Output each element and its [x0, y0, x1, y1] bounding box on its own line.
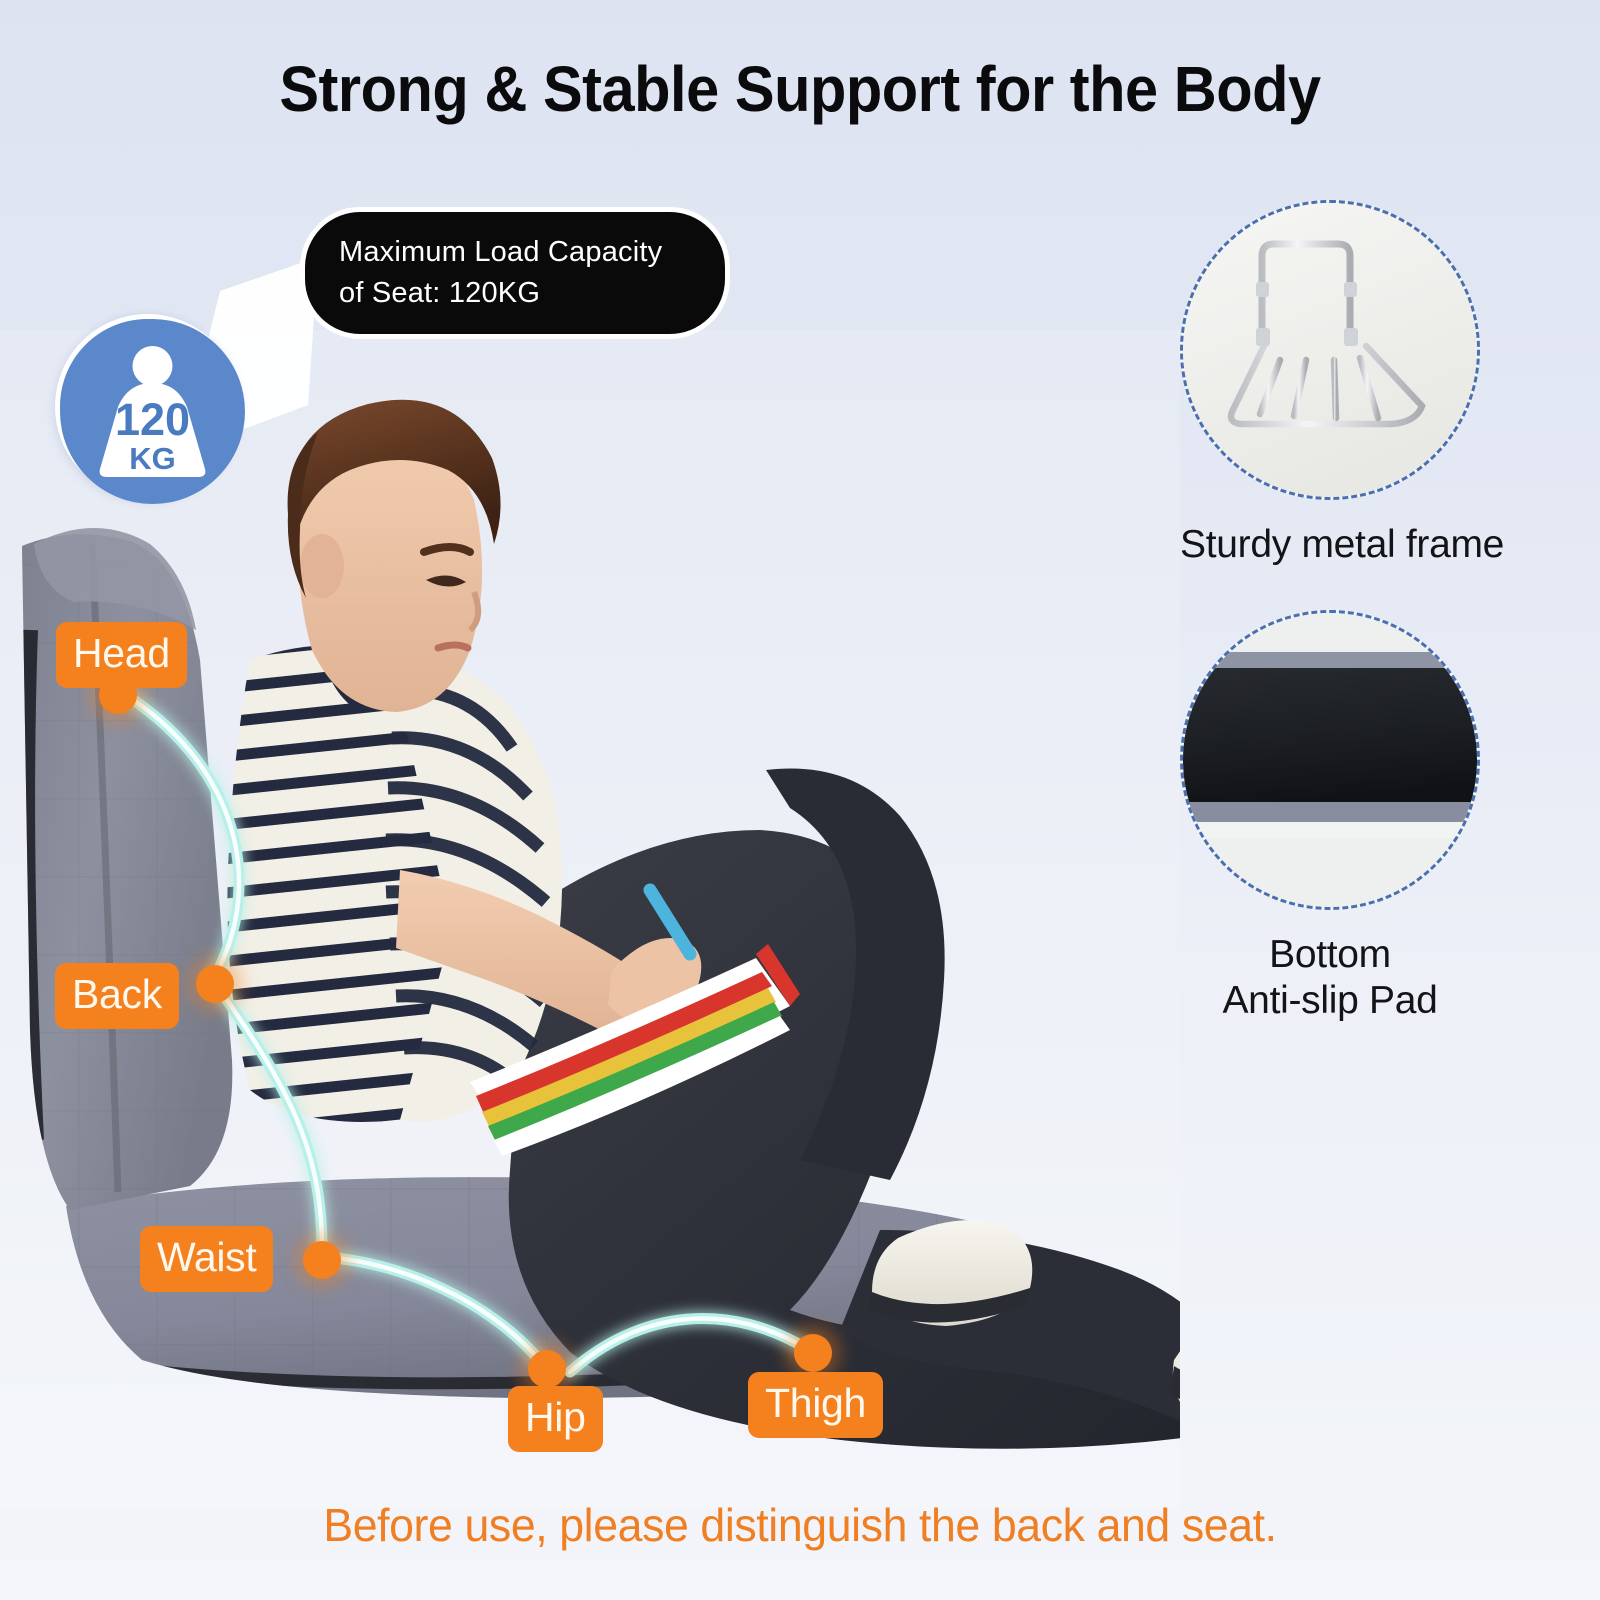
- load-capacity-badge: 120 KG: [55, 314, 240, 499]
- body-label-hip-dot: [528, 1350, 566, 1388]
- infographic-root: Strong & Stable Support for the Body: [0, 0, 1600, 1600]
- body-label-back[interactable]: Back: [55, 963, 179, 1029]
- anti-slip-pad-caption: Bottom Anti-slip Pad: [1180, 932, 1480, 1024]
- metal-frame-photo: [1180, 200, 1480, 500]
- anti-slip-pad-photo: [1180, 610, 1480, 910]
- body-label-thigh[interactable]: Thigh: [748, 1372, 883, 1438]
- page-title: Strong & Stable Support for the Body: [56, 52, 1544, 126]
- callout-line-1: Maximum Load Capacity: [339, 232, 695, 273]
- anti-slip-pad-circle: [1180, 610, 1480, 910]
- metal-frame-caption: Sturdy metal frame: [1180, 522, 1504, 568]
- badge-value: 120: [115, 394, 190, 445]
- body-label-head[interactable]: Head: [56, 622, 187, 688]
- load-capacity-callout: Maximum Load Capacity of Seat: 120KG 120…: [60, 195, 760, 515]
- badge-unit: KG: [129, 441, 176, 476]
- body-label-back-dot: [196, 965, 234, 1003]
- weight-person-icon: 120 KG: [60, 319, 245, 504]
- detail-metal-frame: Sturdy metal frame: [1180, 200, 1504, 568]
- body-label-waist-dot: [303, 1241, 341, 1279]
- body-label-thigh-dot: [794, 1334, 832, 1372]
- body-label-waist[interactable]: Waist: [140, 1226, 273, 1292]
- footer-note: Before use, please distinguish the back …: [24, 1498, 1576, 1552]
- detail-anti-slip-pad: Bottom Anti-slip Pad: [1180, 610, 1480, 1024]
- callout-line-2: of Seat: 120KG: [339, 273, 695, 314]
- load-capacity-pill: Maximum Load Capacity of Seat: 120KG: [300, 207, 730, 339]
- body-label-hip[interactable]: Hip: [508, 1386, 603, 1452]
- metal-frame-circle: [1180, 200, 1480, 500]
